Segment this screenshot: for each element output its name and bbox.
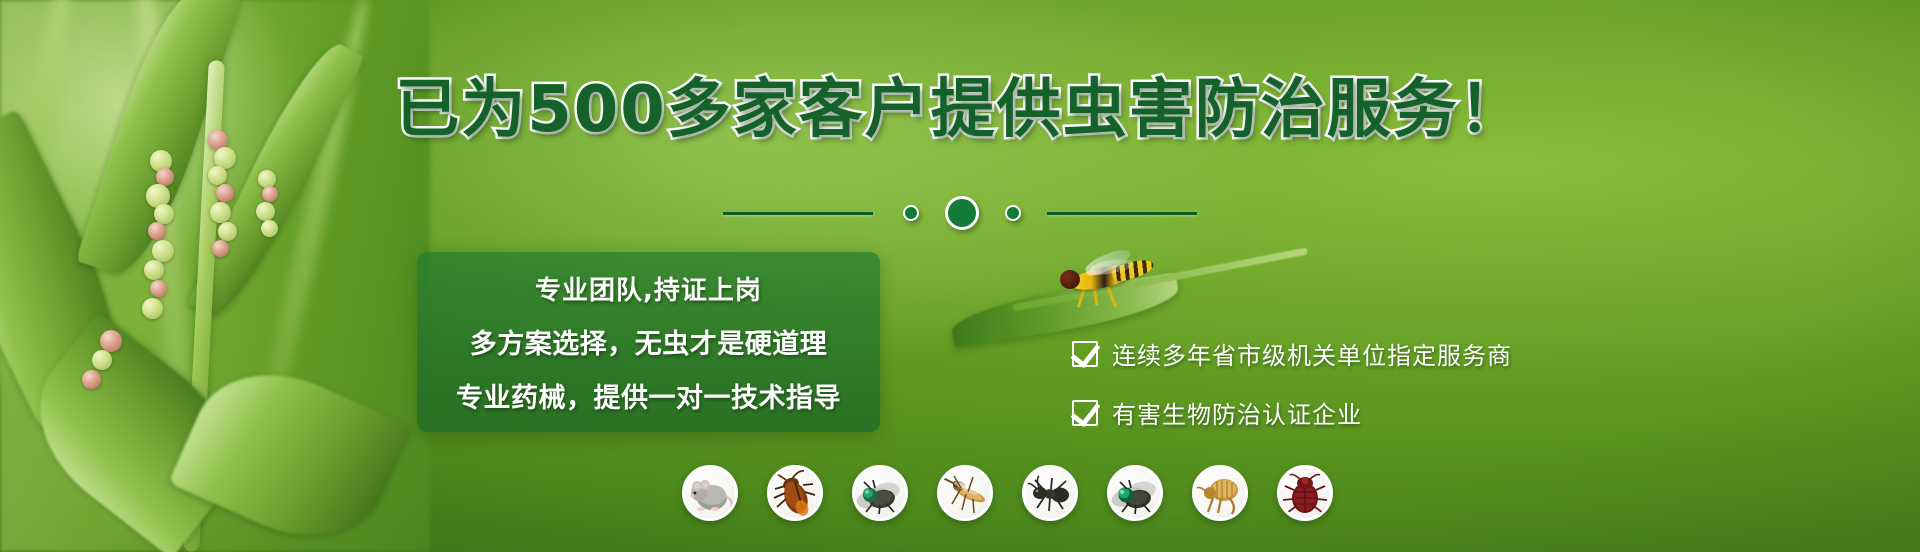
mosquito-icon[interactable] — [937, 465, 993, 521]
credential-text-2: 有害生物防治认证企业 — [1112, 395, 1362, 430]
list-item: 有害生物防治认证企业 — [1072, 395, 1512, 430]
credential-text-1: 连续多年省市级机关单位指定服务商 — [1112, 336, 1512, 371]
small-dot-icon — [1005, 205, 1021, 221]
pest-icon-strip — [682, 465, 1333, 521]
large-dot-icon — [945, 196, 979, 230]
plant-bud — [152, 240, 174, 262]
plant-bud — [100, 330, 122, 352]
headline-text: 已为500多家客户提供虫害防治服务！ — [395, 73, 1525, 147]
selling-point-3: 专业药械，提供一对一技术指导 — [456, 376, 841, 415]
plant-bud — [82, 370, 101, 389]
headline-ornament — [0, 196, 1920, 230]
plant-bud — [208, 166, 227, 185]
credentials-list: 连续多年省市级机关单位指定服务商 有害生物防治认证企业 — [1072, 336, 1512, 430]
selling-point-1: 专业团队,持证上岗 — [535, 270, 762, 307]
plant-bud — [212, 240, 229, 257]
plant-bud — [142, 298, 163, 319]
selling-point-2: 多方案选择，无虫才是硬道理 — [470, 322, 828, 361]
cockroach-icon[interactable] — [767, 465, 823, 521]
selling-points-panel: 专业团队,持证上岗 多方案选择，无虫才是硬道理 专业药械，提供一对一技术指导 — [417, 252, 880, 432]
mouse-icon[interactable] — [682, 465, 738, 521]
plant-bud — [144, 260, 164, 280]
fly-icon[interactable] — [852, 465, 908, 521]
divider-line — [1047, 212, 1197, 215]
plant-bud — [150, 280, 167, 297]
divider-line — [723, 212, 873, 215]
bedbug-icon[interactable] — [1277, 465, 1333, 521]
list-item: 连续多年省市级机关单位指定服务商 — [1072, 336, 1512, 371]
flea-icon[interactable] — [1192, 465, 1248, 521]
hoverfly-illustration — [1040, 246, 1160, 308]
fly-green-icon[interactable] — [1107, 465, 1163, 521]
plant-bud — [92, 350, 112, 370]
checkbox-checked-icon — [1072, 400, 1098, 426]
promo-banner: 已为500多家客户提供虫害防治服务！ 专业团队,持证上岗 多方案选择，无虫才是硬… — [0, 0, 1920, 552]
ant-icon[interactable] — [1022, 465, 1078, 521]
page-title: 已为500多家客户提供虫害防治服务！ — [0, 78, 1920, 142]
small-dot-icon — [903, 205, 919, 221]
checkbox-checked-icon — [1072, 341, 1098, 367]
